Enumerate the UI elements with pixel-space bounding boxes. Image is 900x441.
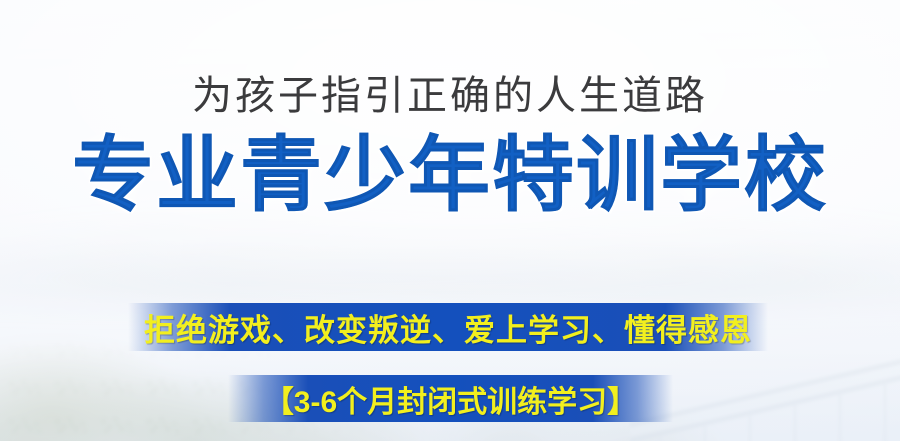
- ribbon-duration: 【3-6个月封闭式训练学习】: [228, 375, 673, 422]
- banner-headline: 专业青少年特训学校: [0, 128, 900, 224]
- promotional-banner: 为孩子指引正确的人生道路 专业青少年特训学校 拒绝游戏、改变叛逆、爱上学习、懂得…: [0, 0, 900, 441]
- banner-content: 为孩子指引正确的人生道路 专业青少年特训学校 拒绝游戏、改变叛逆、爱上学习、懂得…: [0, 0, 900, 441]
- ribbon-goals: 拒绝游戏、改变叛逆、爱上学习、懂得感恩: [128, 303, 768, 351]
- ribbon-goals-label: 拒绝游戏、改变叛逆、爱上学习、懂得感恩: [144, 305, 752, 350]
- banner-subtitle: 为孩子指引正确的人生道路: [0, 72, 900, 120]
- ribbon-duration-label: 【3-6个月封闭式训练学习】: [264, 377, 637, 421]
